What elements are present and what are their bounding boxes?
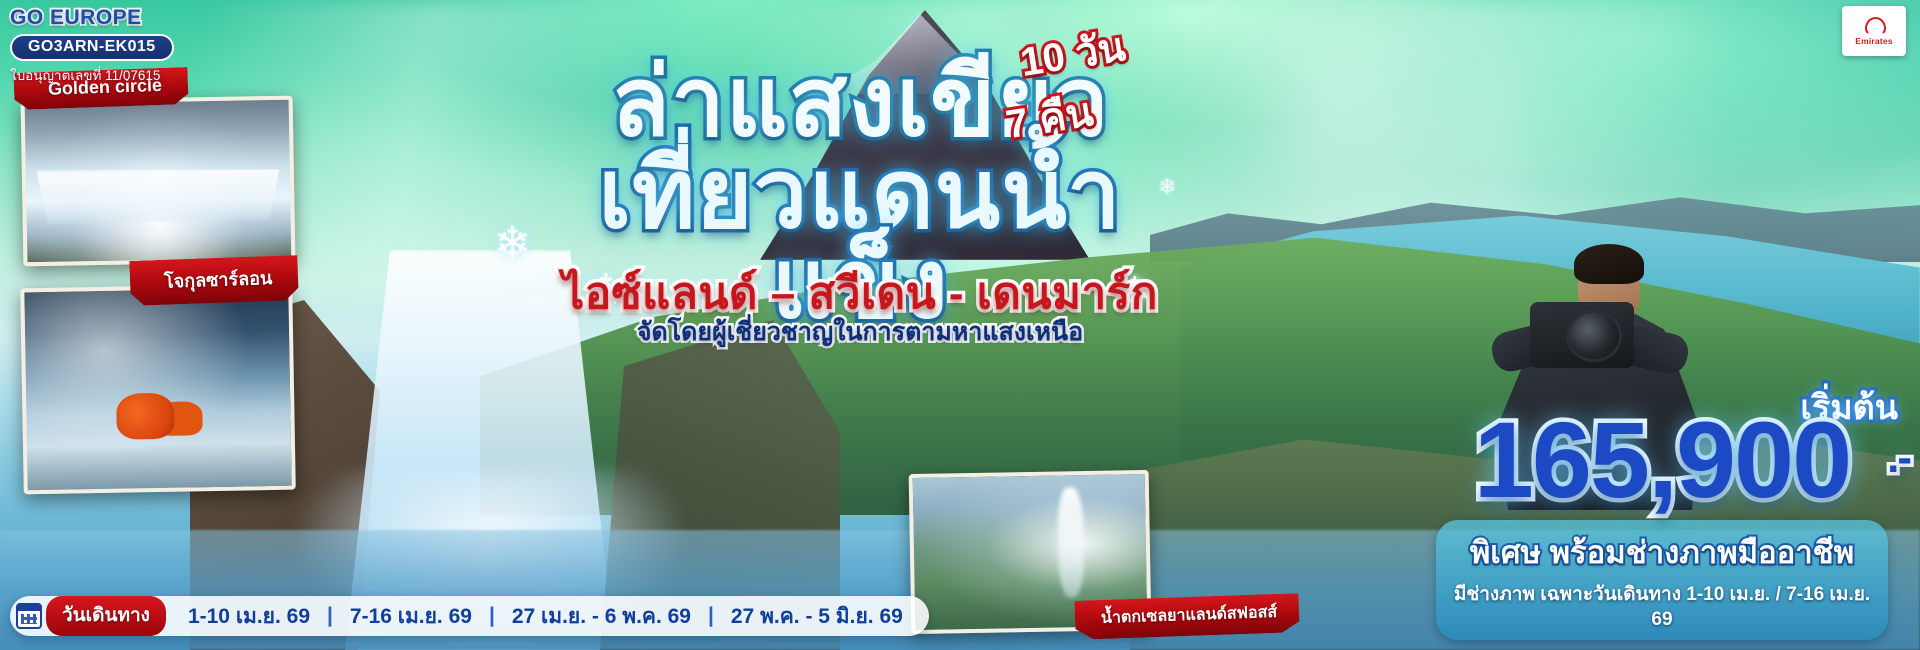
brand-block: GO EUROPE GO3ARN-EK015 ใบอนุญาตเลขที่ 11…	[10, 6, 230, 86]
tagline: จัดโดยผู้เชี่ยวชาญในการตามหาแสงเหนือ	[560, 312, 1160, 352]
emirates-label: Emirates	[1855, 36, 1893, 46]
travel-dates-label: วันเดินทาง	[46, 596, 166, 636]
caption-ribbon-seljalandsfoss: น้ำตกเซลยาแลนด์สฟอสส์	[1074, 593, 1299, 640]
price-block: เริ่มต้น 165,900.- พิเศษ พร้อมช่างภาพมือ…	[1412, 388, 1912, 640]
camera-lens-icon	[1566, 310, 1622, 362]
calendar-icon	[16, 603, 42, 629]
travel-dates-bar: วันเดินทาง 1-10 เม.ย. 69 | 7-16 เม.ย. 69…	[10, 596, 929, 636]
photographer-hair	[1574, 244, 1644, 284]
price-number: 165,900	[1474, 399, 1850, 520]
promo-box: พิเศษ พร้อมช่างภาพมืออาชีพ มีช่างภาพ เฉพ…	[1436, 520, 1888, 640]
price-amount: 165,900.-	[1412, 406, 1912, 514]
photo-card-golden-circle	[21, 96, 296, 267]
travel-date-option[interactable]: 27 เม.ย. - 6 พ.ค. 69	[512, 600, 691, 633]
promo-subtext: มีช่างภาพ เฉพาะวันเดินทาง 1-10 เม.ย. / 7…	[1446, 579, 1878, 631]
tour-code-badge: GO3ARN-EK015	[10, 34, 174, 61]
travel-date-option[interactable]: 1-10 เม.ย. 69	[188, 600, 310, 633]
price-baht-mark: .-	[1887, 436, 1910, 480]
date-separator: |	[489, 604, 495, 628]
travel-promo-banner: ❄ ❄ ❄ ❄ ❄ GO EUROPE GO3ARN-EK015 ใบอนุญา…	[0, 0, 1920, 650]
photo-card-jokulsarlon	[20, 284, 296, 495]
travel-date-option[interactable]: 7-16 เม.ย. 69	[350, 600, 472, 633]
date-separator: |	[327, 604, 333, 628]
license-number: ใบอนุญาตเลขที่ 11/07615	[10, 64, 230, 86]
emirates-logo-icon: Emirates	[1842, 6, 1906, 56]
date-separator: |	[708, 604, 714, 628]
photo-jokulsarlon	[24, 288, 291, 491]
caption-ribbon-jokulsarlon: โจกุลซาร์ลอน	[129, 255, 299, 306]
emirates-mark-icon	[1863, 17, 1885, 35]
photo-golden-circle	[25, 100, 292, 263]
duration-badge: 10 วัน 7 คืน	[1020, 22, 1125, 150]
promo-headline: พิเศษ พร้อมช่างภาพมืออาชีพ	[1446, 527, 1878, 577]
travel-date-option[interactable]: 27 พ.ค. - 5 มิ.ย. 69	[731, 600, 903, 633]
brand-title: GO EUROPE	[10, 6, 230, 30]
